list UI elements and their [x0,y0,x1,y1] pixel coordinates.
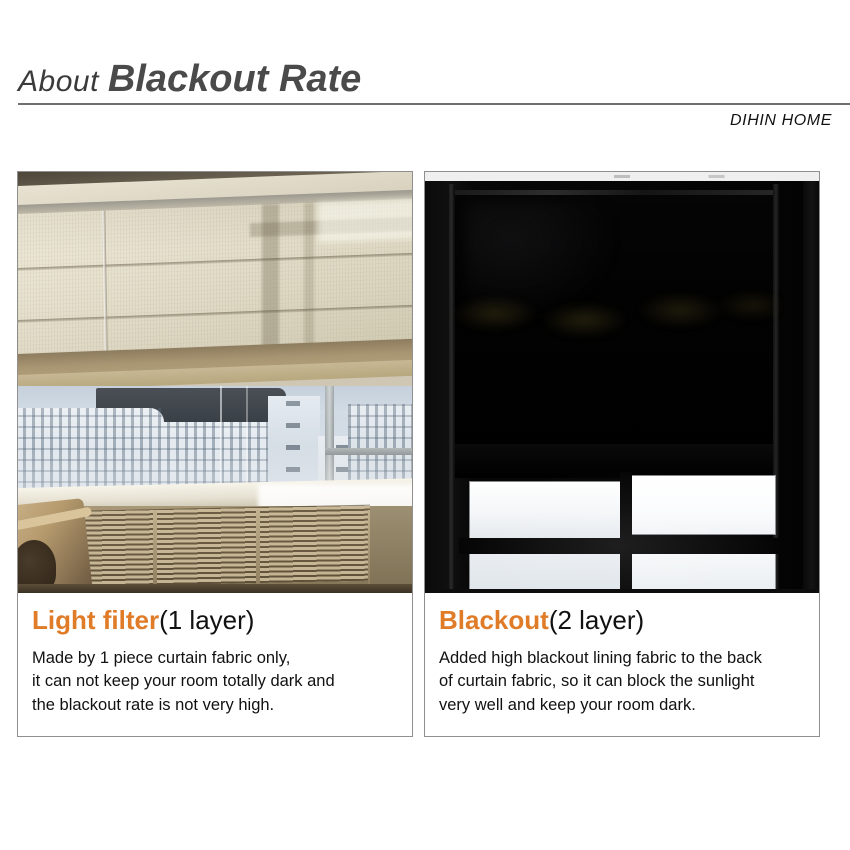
shade-hem [455,444,773,478]
window-frame-left [449,184,454,593]
card-blackout: Blackout(2 layer) Added high blackout li… [424,171,820,737]
radiator-divider-2 [256,510,260,590]
window-mullion-horizontal [459,538,779,554]
window-pane-bottom-right [630,550,775,593]
page-header: About Blackout Rate DIHIN HOME [0,0,850,150]
photo-light-filter [18,172,412,593]
card-light-filter: Light filter(1 layer) Made by 1 piece cu… [17,171,413,737]
photo-blackout [425,172,819,593]
window-pane-top-right [630,476,775,534]
light-filter-shade [18,199,412,362]
caption-blackout: Blackout(2 layer) Added high blackout li… [425,593,819,717]
caption-title: Light filter(1 layer) [32,607,400,633]
caption-title-plain: (1 layer) [159,605,254,635]
brand-name: DIHIN HOME [730,112,832,130]
window-mullion-vertical [620,472,632,593]
caption-title-plain: (2 layer) [549,605,644,635]
window-pane-top-left [470,482,620,538]
window-shadow-vertical-1 [262,204,279,355]
shade-headrail [455,190,773,195]
ceiling-band-marks [425,175,819,178]
page-title: About Blackout Rate [18,58,361,101]
window-pane-bottom-left [470,554,620,593]
page-title-prefix: About [18,65,99,99]
floor-strip [18,584,412,593]
caption-title: Blackout(2 layer) [439,607,807,633]
caption-light-filter: Light filter(1 layer) Made by 1 piece cu… [18,593,412,717]
radiator-divider-1 [153,510,157,590]
sunlight-highlight [318,198,412,242]
caption-body: Made by 1 piece curtain fabric only, it … [32,647,400,717]
ceiling-band [425,172,819,181]
window-shadow-vertical-2 [304,203,314,353]
radiator-slats [66,505,370,587]
glass-haze [18,386,412,494]
window-glass-cityscape [18,386,412,494]
caption-title-strong: Light filter [32,605,159,635]
page-title-main: Blackout Rate [108,58,361,101]
caption-body: Added high blackout lining fabric to the… [439,647,807,717]
wall-edge-right [803,181,819,593]
radiator-end-panel [370,506,412,593]
header-divider [18,103,850,105]
caption-title-strong: Blackout [439,605,549,635]
shade-scallop-fold [449,272,779,352]
